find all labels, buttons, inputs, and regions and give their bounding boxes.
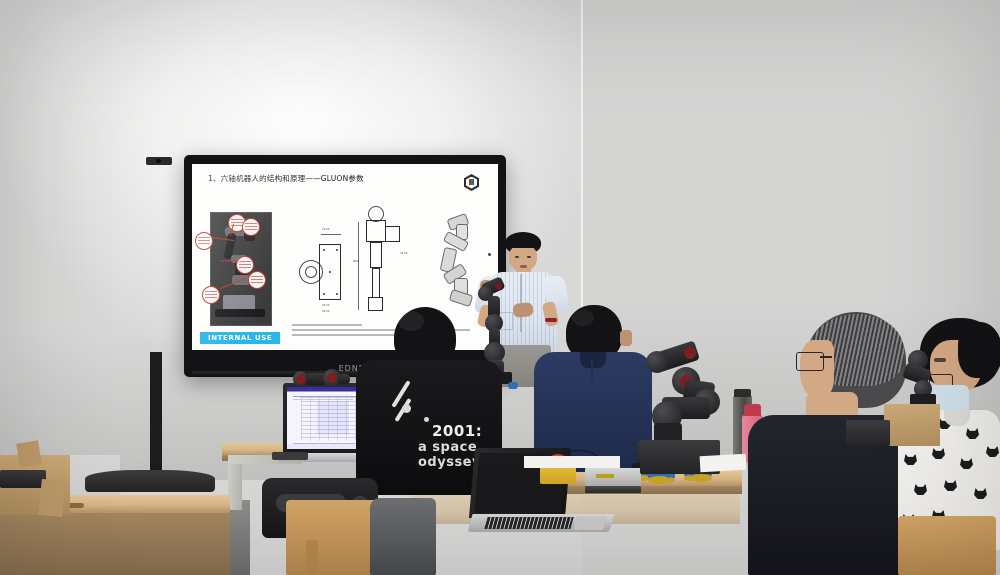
slide-callout-2 <box>242 218 260 236</box>
presenter-wrist-band <box>545 318 557 322</box>
suction-disc-1 <box>648 476 670 484</box>
slide-callout-5 <box>248 271 266 289</box>
cardboard-box-flap <box>16 440 41 467</box>
internal-use-badge: INTERNAL USE <box>200 332 280 344</box>
suction-disc-2 <box>690 474 712 482</box>
robot-controller-base <box>585 486 641 493</box>
thermos-cap <box>734 389 751 397</box>
desk-robot-left <box>293 365 351 391</box>
slide-title: 1、六轴机器人的结构和原理——GLUON参数 <box>208 173 438 184</box>
controller-label <box>596 474 614 478</box>
display-power-led-icon <box>488 253 491 256</box>
slide-callout-4 <box>236 256 254 274</box>
slide-callout-3 <box>195 232 213 250</box>
bezel-camera-lens-icon <box>156 159 161 163</box>
classroom-scene-photo: 1、六轴机器人的结构和原理——GLUON参数 <box>0 0 1000 575</box>
display-stand-pole <box>150 352 162 487</box>
slide-callout-6 <box>202 286 220 304</box>
right-desk-robot <box>900 350 952 410</box>
grey-bag-on-chair <box>370 498 436 575</box>
black-equipment-center <box>85 470 215 492</box>
desk-left-leg <box>228 458 242 510</box>
wooden-chair-leg <box>306 540 318 575</box>
presenter-head <box>505 232 541 272</box>
interactive-display[interactable]: 1、六轴机器人的结构和原理——GLUON参数 <box>184 155 506 377</box>
glasses-temple <box>820 356 832 358</box>
pink-bottle-cap <box>744 404 761 416</box>
silver-laptop-trackpad[interactable] <box>573 516 607 530</box>
slide-cad-drawing-front: 76.00 25.50 28.50 <box>295 222 347 320</box>
paper-sheet-right <box>700 454 747 472</box>
smartphone-on-desk[interactable] <box>272 452 308 460</box>
attendee-center-ear <box>620 330 632 346</box>
glasses-icon <box>796 352 824 371</box>
wooden-chair-right[interactable] <box>898 516 996 575</box>
black-device-right <box>846 420 890 446</box>
company-hex-logo <box>464 174 479 191</box>
slide-cad-drawing-side: Ø60 25.50 <box>352 202 412 320</box>
black-equipment-left <box>0 470 46 488</box>
desk-front-left-body <box>0 513 230 575</box>
cardboard-box-flap-2 <box>38 479 66 517</box>
paper-sheet-center <box>524 456 620 468</box>
attendee-shirt-text-line1: 2001: <box>432 422 482 440</box>
cardboard-box-right <box>884 404 940 446</box>
